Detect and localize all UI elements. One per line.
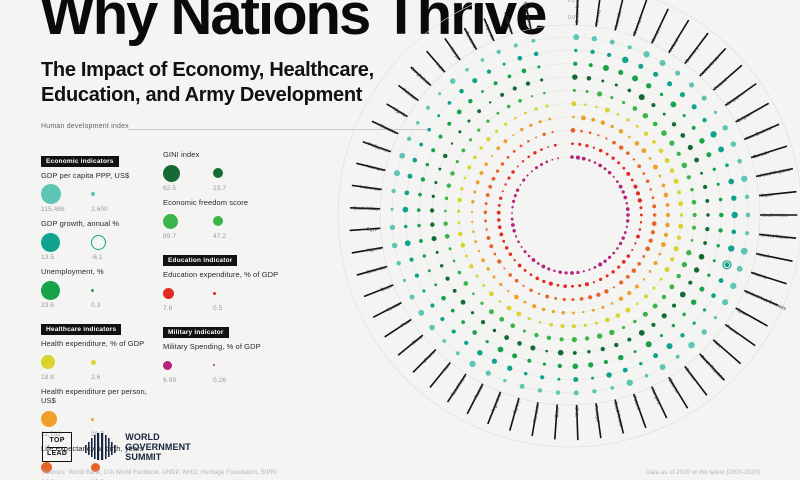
data-dot [517, 341, 522, 346]
data-dot [391, 208, 394, 211]
data-dot [434, 283, 437, 286]
data-dot [530, 273, 533, 276]
data-dot [731, 230, 736, 235]
data-dot [444, 210, 447, 213]
data-dot [638, 64, 643, 69]
data-dot [573, 363, 579, 369]
legend-min-value: 0.3 [91, 302, 125, 309]
label-band-arc [380, 25, 760, 405]
data-dot [502, 190, 504, 192]
data-dot [484, 219, 487, 222]
data-dot [667, 343, 673, 349]
legend-dot-swatch [41, 233, 60, 252]
data-dot [612, 141, 616, 145]
country-label: Brazil [380, 283, 393, 292]
data-dot [499, 232, 503, 236]
country-label: Algeria [366, 245, 381, 252]
data-dot [665, 158, 670, 163]
data-dot [486, 340, 489, 343]
data-dot [522, 160, 524, 162]
data-dot [651, 103, 655, 107]
data-dot [495, 130, 498, 133]
data-dot [558, 364, 562, 368]
data-dot [521, 246, 523, 248]
data-dot [662, 313, 667, 318]
data-dot [677, 152, 681, 156]
country-label: Ukraine [422, 349, 437, 364]
data-dot [423, 254, 426, 257]
data-dot [514, 259, 516, 261]
world-government-summit-logo: WORLD GOVERNMENT SUMMIT [84, 432, 191, 462]
data-dot [457, 109, 462, 114]
data-dot [669, 140, 674, 145]
data-dot [601, 347, 605, 351]
data-dot [537, 262, 540, 265]
data-dot [675, 71, 680, 76]
data-dot [625, 308, 630, 313]
data-dot [666, 213, 670, 217]
data-dot [484, 162, 488, 166]
data-dot [699, 138, 704, 143]
data-dot [416, 121, 420, 125]
data-dot [461, 149, 465, 153]
country-label: Netherlands [699, 54, 720, 76]
country-label: Estonia [668, 378, 680, 394]
data-dot [461, 300, 466, 305]
data-dot [672, 304, 676, 308]
data-dot [652, 140, 656, 144]
data-dot [443, 222, 447, 226]
data-dot [670, 257, 674, 261]
data-dot [741, 248, 748, 255]
data-dot [542, 308, 545, 311]
data-dot [524, 112, 527, 115]
data-dot [746, 213, 751, 218]
data-dot [503, 267, 505, 269]
data-dot [694, 267, 699, 272]
data-dot [606, 372, 612, 378]
data-dot [486, 137, 490, 141]
data-dot [538, 293, 540, 295]
data-dot [606, 153, 609, 156]
data-dot [426, 106, 430, 110]
legend-dot-swatch [91, 235, 106, 250]
data-dot [728, 245, 734, 251]
country-label: Ireland [668, 37, 680, 52]
data-dot [653, 353, 658, 358]
data-dot [678, 224, 683, 229]
data-dot [468, 99, 472, 103]
country-label: Israel [757, 252, 769, 259]
data-dot [453, 260, 456, 263]
data-dot [618, 70, 623, 75]
data-dot [626, 202, 629, 205]
country-label: Canada [752, 150, 769, 160]
data-dot [700, 172, 703, 175]
country-label: Tanzania [464, 31, 478, 50]
data-dot [526, 81, 530, 85]
data-dot [476, 180, 480, 184]
data-dot [603, 65, 609, 71]
legend-value-pair: 18.82.6 [41, 351, 161, 381]
data-dot [597, 134, 599, 136]
data-dot [617, 161, 620, 164]
legend-max-cell: 6.99 [163, 354, 197, 384]
legend-dot-swatch [163, 288, 174, 299]
legend-dot-swatch [163, 165, 180, 182]
data-dot [513, 86, 517, 90]
source-line: Sources: World Bank, CIA World Factbook,… [42, 470, 760, 476]
data-dot [585, 336, 589, 340]
data-dot [702, 118, 706, 122]
data-dot [547, 146, 549, 148]
data-dot [670, 102, 676, 108]
data-dot [505, 246, 509, 250]
data-dot [492, 177, 496, 181]
legend-indicator: Health expenditure, % of GDP18.82.6 [41, 339, 161, 381]
data-dot [432, 195, 435, 198]
data-dot [703, 241, 707, 245]
data-dot [614, 343, 618, 347]
data-dot [509, 252, 512, 255]
data-dot [667, 81, 672, 86]
data-dot [596, 293, 600, 297]
country-label: Belgium [736, 111, 753, 124]
country-label: Russia [473, 384, 484, 399]
data-dot [436, 251, 439, 254]
data-dot [658, 253, 661, 256]
country-label: Bangladesh [410, 66, 431, 86]
data-dot [499, 283, 502, 286]
country-label: Philippines [367, 141, 390, 153]
data-dot [517, 240, 520, 243]
data-dot [660, 60, 666, 66]
data-dot [526, 174, 528, 176]
data-dot [557, 157, 559, 159]
data-dot [624, 231, 627, 234]
data-dot [676, 274, 680, 278]
data-dot [605, 318, 610, 323]
country-label: Hungary [650, 387, 662, 405]
data-dot [501, 162, 504, 165]
legend-max-cell: 115,486 [41, 183, 75, 213]
data-dot [652, 196, 655, 199]
data-dot [604, 289, 608, 293]
data-dot [493, 275, 496, 278]
data-dot [390, 225, 395, 230]
data-dot [537, 65, 540, 68]
data-dot [649, 188, 652, 191]
data-dot [529, 289, 532, 292]
data-dot [422, 289, 425, 292]
data-dot [711, 293, 716, 298]
data-dot [477, 109, 481, 113]
data-dot [599, 278, 602, 281]
country-label: Nigeria [392, 106, 407, 118]
data-dot [619, 185, 623, 189]
data-dot [534, 107, 537, 110]
data-dot [572, 312, 575, 315]
data-dot [665, 223, 670, 228]
data-dot [643, 312, 648, 317]
data-dot [638, 198, 642, 202]
data-dot [628, 45, 632, 49]
data-dot [672, 324, 675, 327]
data-dot [513, 150, 516, 153]
data-dot [706, 152, 711, 157]
data-dot [571, 142, 574, 145]
data-dot [458, 271, 462, 275]
data-dot [440, 317, 444, 321]
data-dot [524, 372, 528, 376]
data-dot [591, 377, 594, 380]
data-dot [622, 101, 625, 104]
data-dot [683, 114, 686, 117]
data-dot [680, 213, 683, 216]
wgs-wordmark: WORLD GOVERNMENT SUMMIT [125, 432, 191, 462]
data-dot [543, 363, 546, 366]
data-dot [502, 240, 505, 243]
legend-max-value: 7.8 [163, 305, 197, 312]
data-dot [465, 255, 468, 258]
data-dot [487, 236, 491, 240]
data-dot [534, 52, 539, 57]
legend-section-tag: Military indicator [163, 327, 229, 338]
data-dot [664, 193, 669, 198]
data-dot [432, 236, 437, 241]
data-dot [616, 247, 619, 250]
legend-max-value: 115,486 [41, 206, 75, 213]
data-dot [578, 284, 581, 287]
data-dot [627, 291, 631, 295]
legend-dot-swatch [213, 216, 223, 226]
data-dot [563, 298, 566, 301]
data-dot [479, 171, 483, 175]
legend-indicator-label: Unemployment, % [41, 267, 161, 276]
data-dot [531, 39, 535, 43]
data-dot [499, 197, 502, 200]
data-dot [430, 208, 434, 212]
data-dot [458, 232, 462, 236]
data-dot [504, 123, 507, 126]
data-dot [542, 280, 545, 283]
data-dot [474, 240, 477, 243]
data-dot [427, 128, 431, 132]
data-dot [645, 374, 649, 378]
data-dot [627, 254, 631, 258]
legend-max-value: 13.5 [41, 254, 75, 261]
data-dot [597, 333, 602, 338]
data-dot [628, 89, 632, 93]
data-dot [653, 122, 658, 127]
data-dot [549, 118, 552, 121]
data-dot [636, 191, 640, 195]
data-dot [664, 233, 668, 237]
wgs-line1: WORLD [125, 432, 191, 442]
data-dot [649, 157, 652, 160]
data-dot [607, 53, 611, 57]
data-dot [622, 167, 625, 170]
data-dot [522, 178, 525, 181]
data-dot [394, 170, 400, 176]
data-dot [547, 267, 550, 270]
data-dot [572, 116, 575, 119]
data-dot [496, 146, 500, 150]
data-dot [589, 131, 592, 134]
data-dot [653, 261, 657, 265]
data-dot [741, 176, 747, 182]
data-dot [626, 275, 630, 279]
data-dot [496, 169, 499, 172]
data-dot [661, 130, 667, 136]
data-dot [489, 101, 491, 103]
data-dot [582, 311, 584, 313]
data-dot [508, 74, 512, 78]
data-dot [484, 210, 488, 214]
legend-min-value: 2,600 [91, 206, 125, 213]
data-dot [532, 258, 536, 262]
data-dot [636, 125, 639, 128]
data-dot [616, 313, 621, 318]
data-dot [646, 180, 649, 183]
data-dot [473, 156, 477, 160]
data-dot [524, 250, 527, 253]
country-label: Sierra Leone [523, 1, 533, 28]
data-dot [632, 75, 638, 81]
data-dot [438, 92, 441, 95]
data-dot [404, 190, 409, 195]
data-dot [547, 336, 551, 340]
data-dot [418, 310, 424, 316]
data-dot [635, 141, 640, 146]
data-dot [618, 355, 623, 360]
legend-max-cell: 18.8 [41, 351, 75, 381]
data-dot [623, 196, 627, 200]
data-dot [528, 317, 531, 320]
data-dot [461, 320, 465, 324]
legend-max-value: 18.8 [41, 374, 75, 381]
data-dot [737, 159, 742, 164]
data-dot [636, 235, 640, 239]
legend-min-value: -6.1 [91, 254, 125, 261]
data-dot [545, 295, 549, 299]
data-dot [653, 304, 658, 309]
data-dot [672, 122, 676, 126]
data-dot [504, 183, 506, 185]
data-dot [557, 284, 560, 287]
data-dot [497, 211, 501, 215]
data-dot [573, 351, 577, 355]
data-dot [527, 155, 530, 158]
legend-value-pair: 89.747.2 [163, 210, 313, 240]
data-dot [608, 256, 611, 259]
legend-dot-swatch [163, 214, 178, 229]
data-dot [676, 355, 680, 359]
data-dot [552, 310, 555, 313]
country-label: South Korea [762, 213, 788, 218]
data-dot [587, 350, 590, 353]
legend-indicator-label: GINI index [163, 150, 313, 159]
data-dot [471, 200, 474, 203]
data-dot [645, 246, 650, 251]
data-dot [489, 309, 494, 314]
data-dot [445, 277, 449, 281]
data-dot [481, 258, 485, 262]
legend-indicator: Education expenditure, % of GDP7.80.5 [163, 270, 313, 312]
data-dot [737, 266, 743, 272]
data-dot [507, 366, 512, 371]
country-label: Austria [752, 271, 768, 280]
data-dot [688, 281, 692, 285]
data-dot [528, 255, 531, 258]
data-dot [479, 146, 482, 149]
legend-dot-swatch [91, 418, 94, 421]
data-dot [522, 69, 527, 74]
data-dot [584, 103, 587, 106]
data-dot [453, 289, 457, 293]
data-dot [688, 145, 693, 150]
data-dot [556, 390, 560, 394]
data-dot [511, 170, 514, 173]
data-dot [652, 287, 655, 290]
data-dot [604, 167, 607, 170]
data-dot [554, 144, 557, 147]
data-dot [450, 78, 456, 84]
data-dot [472, 78, 477, 83]
data-dot [430, 222, 434, 226]
data-dot [421, 177, 425, 181]
data-dot [594, 161, 597, 164]
data-dot [407, 137, 411, 141]
country-label: Denmark [632, 15, 643, 35]
data-dot [693, 322, 696, 325]
data-dot [465, 68, 469, 72]
data-dot [687, 175, 691, 179]
data-dot [520, 128, 523, 131]
data-dot [534, 333, 538, 337]
data-dot [392, 243, 398, 249]
data-dot [540, 375, 544, 379]
data-dot [603, 260, 606, 263]
data-dot [694, 158, 699, 163]
data-dot [599, 149, 602, 152]
legend-indicator: Military Spending, % of GDP6.990.26 [163, 342, 313, 384]
data-dot [399, 153, 405, 159]
country-label: Greece [684, 366, 697, 381]
country-label: Qatar [554, 406, 560, 418]
data-dot [719, 278, 724, 283]
legend-value-pair: 62.523.7 [163, 162, 313, 192]
data-dot [606, 274, 609, 277]
country-label: South Africa [353, 206, 378, 212]
data-dot [437, 114, 440, 117]
data-dot [713, 168, 716, 171]
data-dot [719, 213, 724, 218]
legend-min-cell: 0.26 [213, 354, 247, 384]
data-dot [613, 286, 615, 288]
data-dot [713, 259, 716, 262]
legend-dot-swatch [163, 361, 172, 370]
country-label: Mexico [386, 301, 402, 312]
data-dot [481, 58, 485, 62]
data-dot [464, 177, 467, 180]
data-dot [690, 188, 694, 192]
data-dot [702, 329, 707, 334]
data-dot [494, 81, 498, 85]
legend-min-cell: 0.5 [213, 282, 247, 312]
data-dot [417, 224, 421, 228]
data-dot [430, 303, 434, 307]
